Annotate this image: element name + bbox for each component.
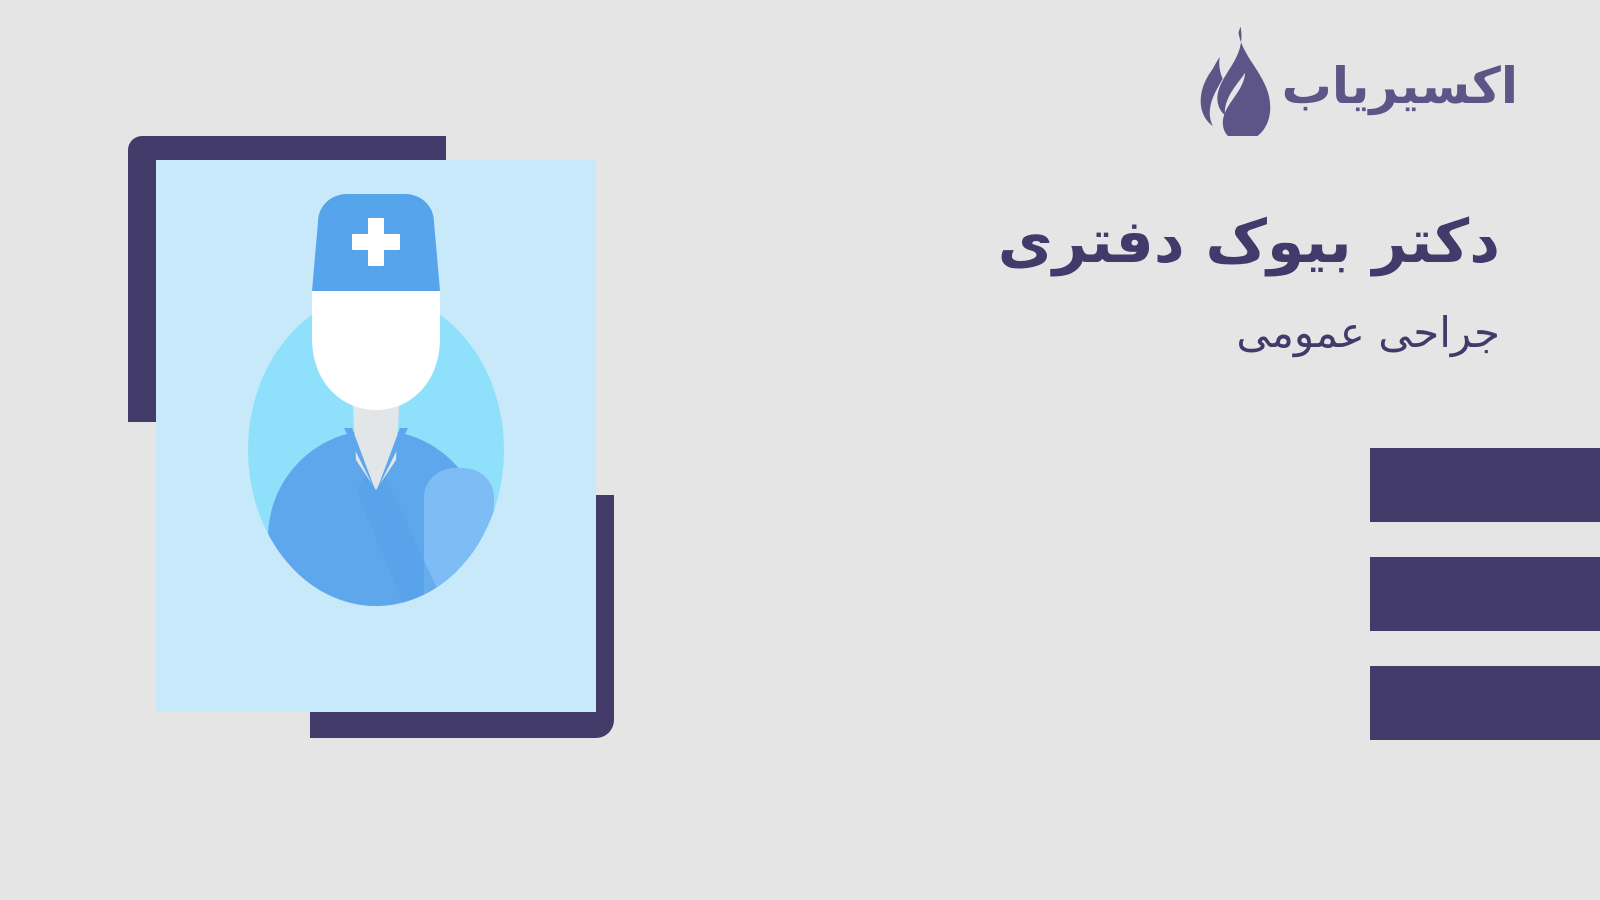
brand-wordmark: اکسیریاب <box>1282 61 1518 111</box>
doctor-name: دکتر بیوک دفتری <box>860 205 1500 280</box>
doctor-illustration <box>128 136 614 738</box>
photo-card <box>156 160 596 712</box>
brand-logo[interactable]: اکسیریاب <box>1194 20 1518 140</box>
page-canvas: اکسیریاب دکتر بیوک دفتری جراحی عمومی <box>0 0 1600 900</box>
decorative-bars <box>1370 448 1600 740</box>
decor-bar-1 <box>1370 448 1600 522</box>
avatar <box>156 160 596 712</box>
doctor-specialty: جراحی عمومی <box>860 306 1500 361</box>
profile-text-block: دکتر بیوک دفتری جراحی عمومی <box>860 205 1500 361</box>
decor-bar-2 <box>1370 557 1600 631</box>
doctor-avatar-icon <box>156 160 596 712</box>
flame-leaf-icon <box>1194 24 1272 136</box>
decor-bar-3 <box>1370 666 1600 740</box>
